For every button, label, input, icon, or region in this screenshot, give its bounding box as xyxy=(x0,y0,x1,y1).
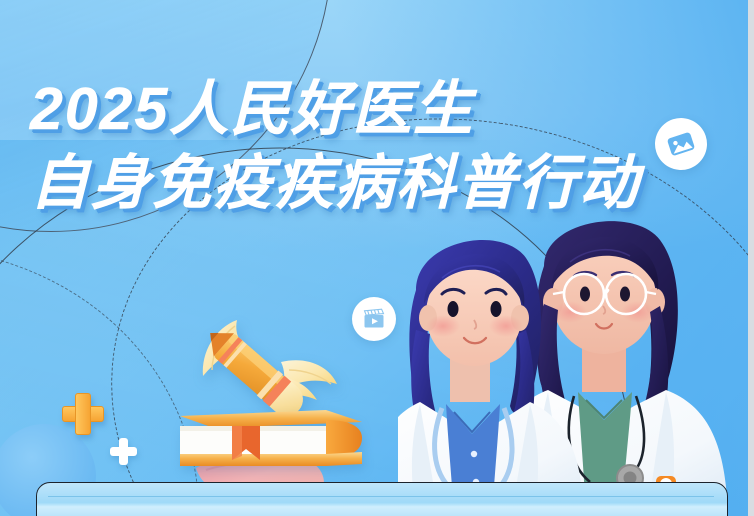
book-spine xyxy=(326,420,362,458)
white-plus-icon xyxy=(110,438,137,465)
title-line-1: 2025人民好医生 xyxy=(30,80,640,139)
doctors-illustration xyxy=(398,214,754,516)
poster-canvas: 2025人民好医生 自身免疫疾病科普行动 xyxy=(0,0,754,516)
book-bottom-cover xyxy=(180,452,362,466)
image-badge[interactable] xyxy=(648,111,714,177)
photo-icon xyxy=(662,125,700,163)
plus-bar-vertical xyxy=(75,393,91,435)
book-illustration xyxy=(176,408,366,478)
plus-bar-vertical xyxy=(119,438,128,465)
right-edge-strip xyxy=(748,0,754,516)
video-badge[interactable] xyxy=(352,297,396,341)
title-line-2: 自身免疫疾病科普行动 xyxy=(30,154,640,213)
clapperboard-play-icon xyxy=(361,306,387,332)
orange-plus-icon xyxy=(62,393,102,433)
desk-surface xyxy=(36,482,728,516)
poster-title: 2025人民好医生 自身免疫疾病科普行动 xyxy=(30,80,640,213)
desk-highlight-line xyxy=(48,496,714,497)
